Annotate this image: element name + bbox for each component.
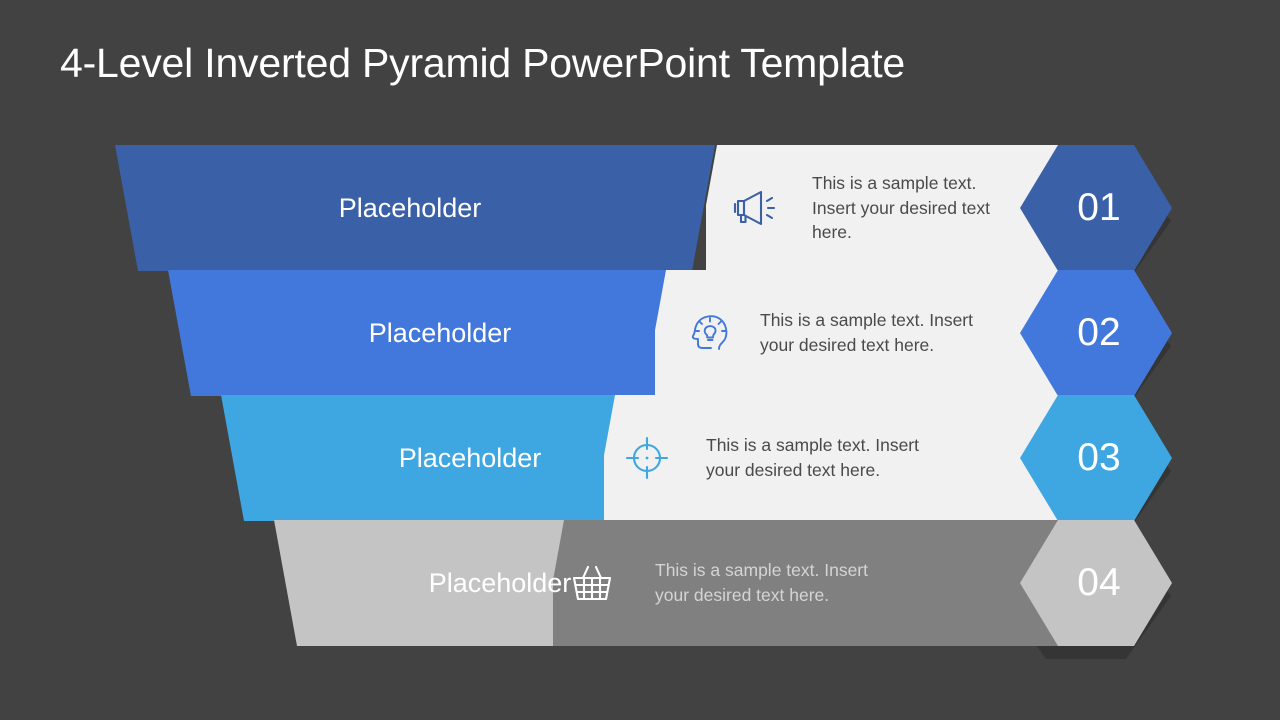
level-1-trapezoid[interactable] [115, 145, 715, 271]
level-3-number: 03 [1020, 395, 1172, 521]
target-icon [615, 395, 679, 521]
page-title: 4-Level Inverted Pyramid PowerPoint Temp… [60, 40, 905, 87]
level-4-text: This is a sample text. Insert your desir… [655, 520, 895, 646]
level-2-number: 02 [1020, 270, 1172, 396]
pyramid-row-3[interactable]: 03 Placeholder This is a sample text. In… [0, 395, 1280, 521]
pyramid-row-1[interactable]: 01 Placeholder This is a sample text. In… [0, 145, 1280, 271]
level-1-text: This is a sample text. Insert your desir… [812, 145, 1012, 271]
head-lightbulb-icon [680, 270, 744, 396]
slide-canvas: 4-Level Inverted Pyramid PowerPoint Temp… [0, 0, 1280, 720]
level-2-text: This is a sample text. Insert your desir… [760, 270, 1000, 396]
pyramid-row-4[interactable]: 04 Placeholder This is a sample text. In… [0, 520, 1280, 646]
level-1-trapezoid-shape [115, 145, 715, 271]
megaphone-icon [723, 145, 787, 271]
pyramid-row-2[interactable]: 02 Placeholder This is a sample text. In… [0, 270, 1280, 396]
level-4-number: 04 [1020, 520, 1172, 646]
shopping-basket-icon [560, 520, 624, 646]
level-1-number: 01 [1020, 145, 1172, 271]
level-3-text: This is a sample text. Insert your desir… [706, 395, 946, 521]
